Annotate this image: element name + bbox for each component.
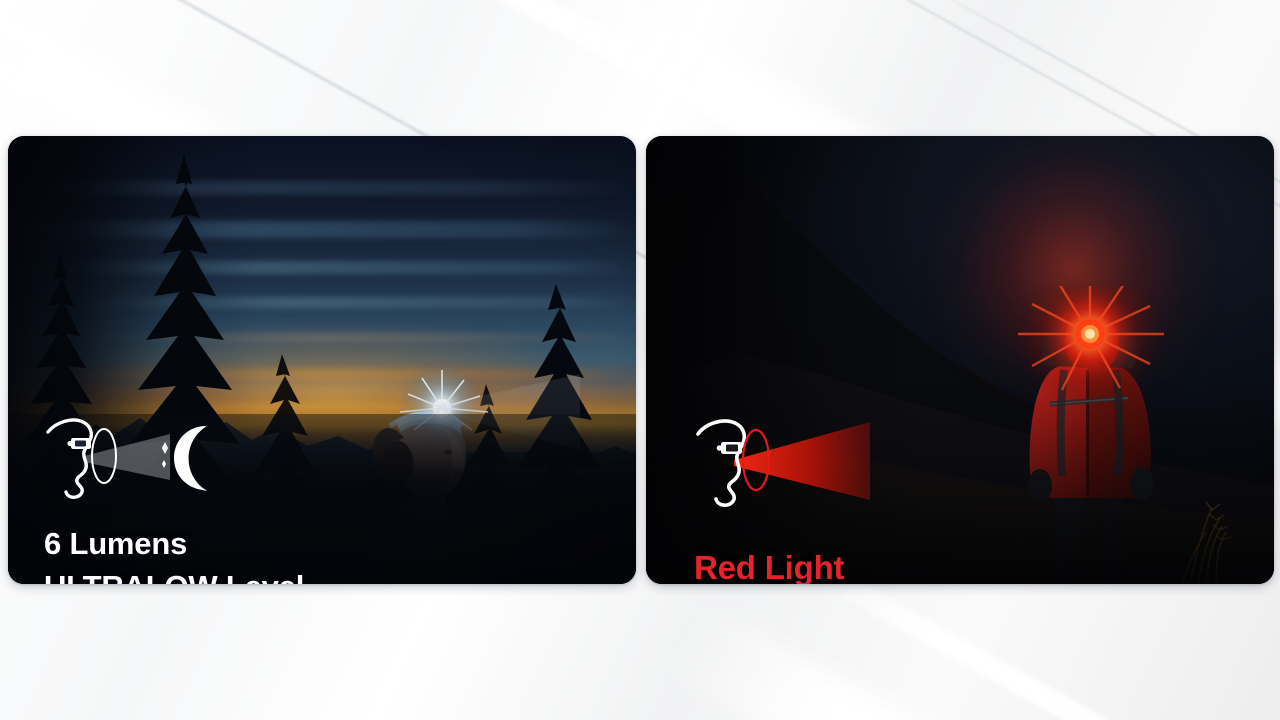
headlamp-white-beam-moon-icon [38, 412, 228, 509]
ultralow-text-block: 6 Lumens ULTRALOW Level Applicable to us… [44, 523, 384, 584]
red-light-text-block: Red Light Ideal for map viewing, emergen… [694, 550, 994, 584]
card-heading-line2: ULTRALOW Level [44, 566, 384, 584]
headlamp-red-beam-icon [690, 412, 870, 527]
card-heading-line1: Red Light [694, 550, 994, 584]
feature-cards-row: 6 Lumens ULTRALOW Level Applicable to us… [8, 136, 1272, 584]
ultralow-level-card[interactable]: 6 Lumens ULTRALOW Level Applicable to us… [8, 136, 636, 584]
card-heading-line1: 6 Lumens [44, 523, 384, 566]
page-root: 6 Lumens ULTRALOW Level Applicable to us… [0, 0, 1280, 720]
red-light-card[interactable]: Red Light Ideal for map viewing, emergen… [646, 136, 1274, 584]
